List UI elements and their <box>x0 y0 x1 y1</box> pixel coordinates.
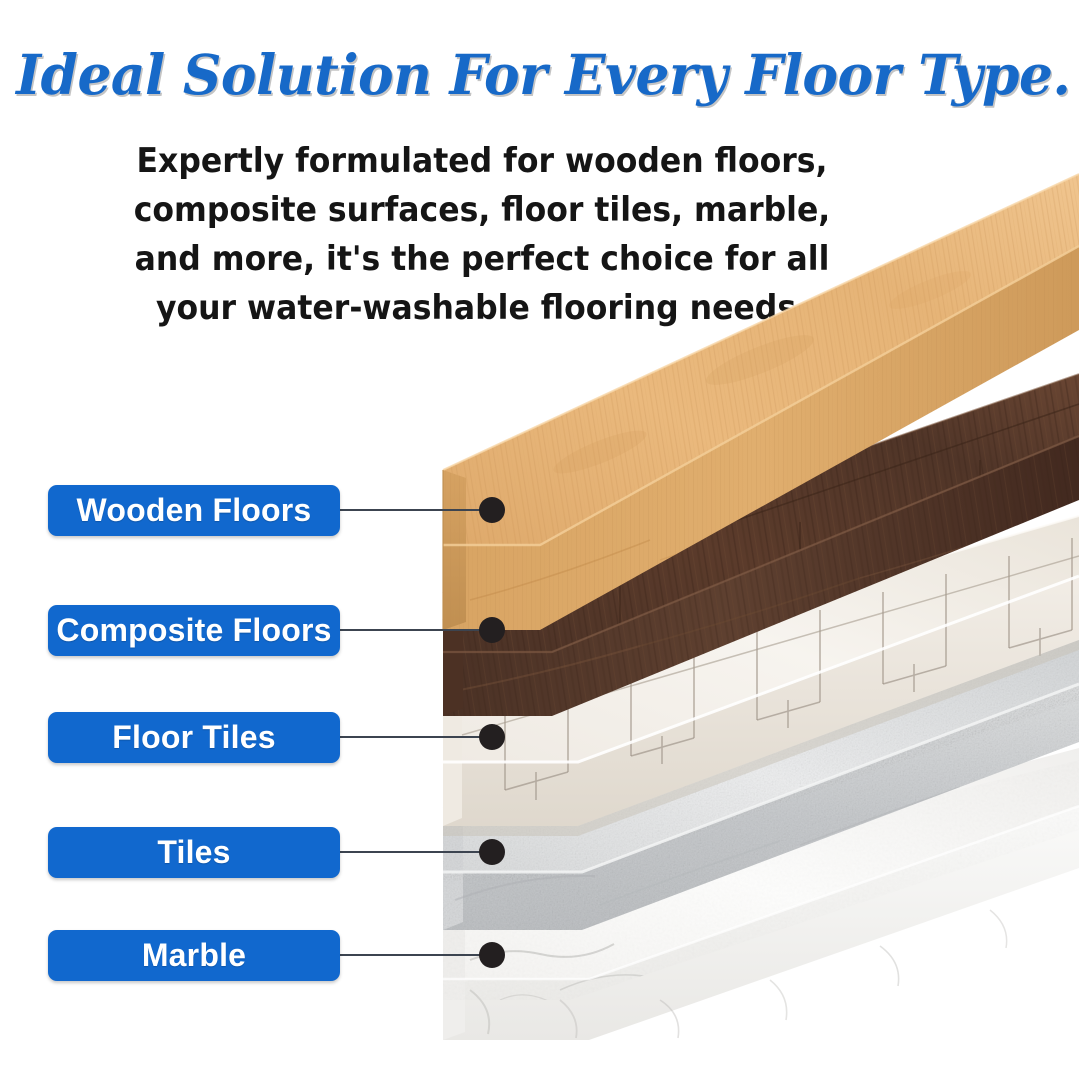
leader-line-composite-floors <box>340 629 502 631</box>
layer-badge-composite-floors[interactable]: Composite Floors <box>48 605 340 656</box>
layer-badge-wooden-floors[interactable]: Wooden Floors <box>48 485 340 536</box>
layer-badge-tiles[interactable]: Tiles <box>48 827 340 878</box>
anchor-dot-composite-floors <box>479 617 505 643</box>
leader-line-tiles <box>340 851 502 853</box>
leader-line-wooden-floors <box>340 509 502 511</box>
layer-label-marble: Marble <box>142 937 246 974</box>
layered-flooring-illustration <box>0 0 1079 1079</box>
layer-label-composite-floors: Composite Floors <box>56 612 331 649</box>
anchor-dot-wooden-floors <box>479 497 505 523</box>
layer-label-floor-tiles: Floor Tiles <box>112 719 275 756</box>
leader-line-floor-tiles <box>340 736 502 738</box>
anchor-dot-tiles <box>479 839 505 865</box>
layer-badge-marble[interactable]: Marble <box>48 930 340 981</box>
layer-label-wooden-floors: Wooden Floors <box>77 492 312 529</box>
flooring-infographic-poster: Ideal Solution For Every Floor Type. Exp… <box>0 0 1079 1079</box>
leader-line-marble <box>340 954 502 956</box>
anchor-dot-floor-tiles <box>479 724 505 750</box>
exploded-flooring-stack-diagram <box>0 0 1079 1079</box>
layer-label-tiles: Tiles <box>157 834 230 871</box>
layer-badge-floor-tiles[interactable]: Floor Tiles <box>48 712 340 763</box>
anchor-dot-marble <box>479 942 505 968</box>
